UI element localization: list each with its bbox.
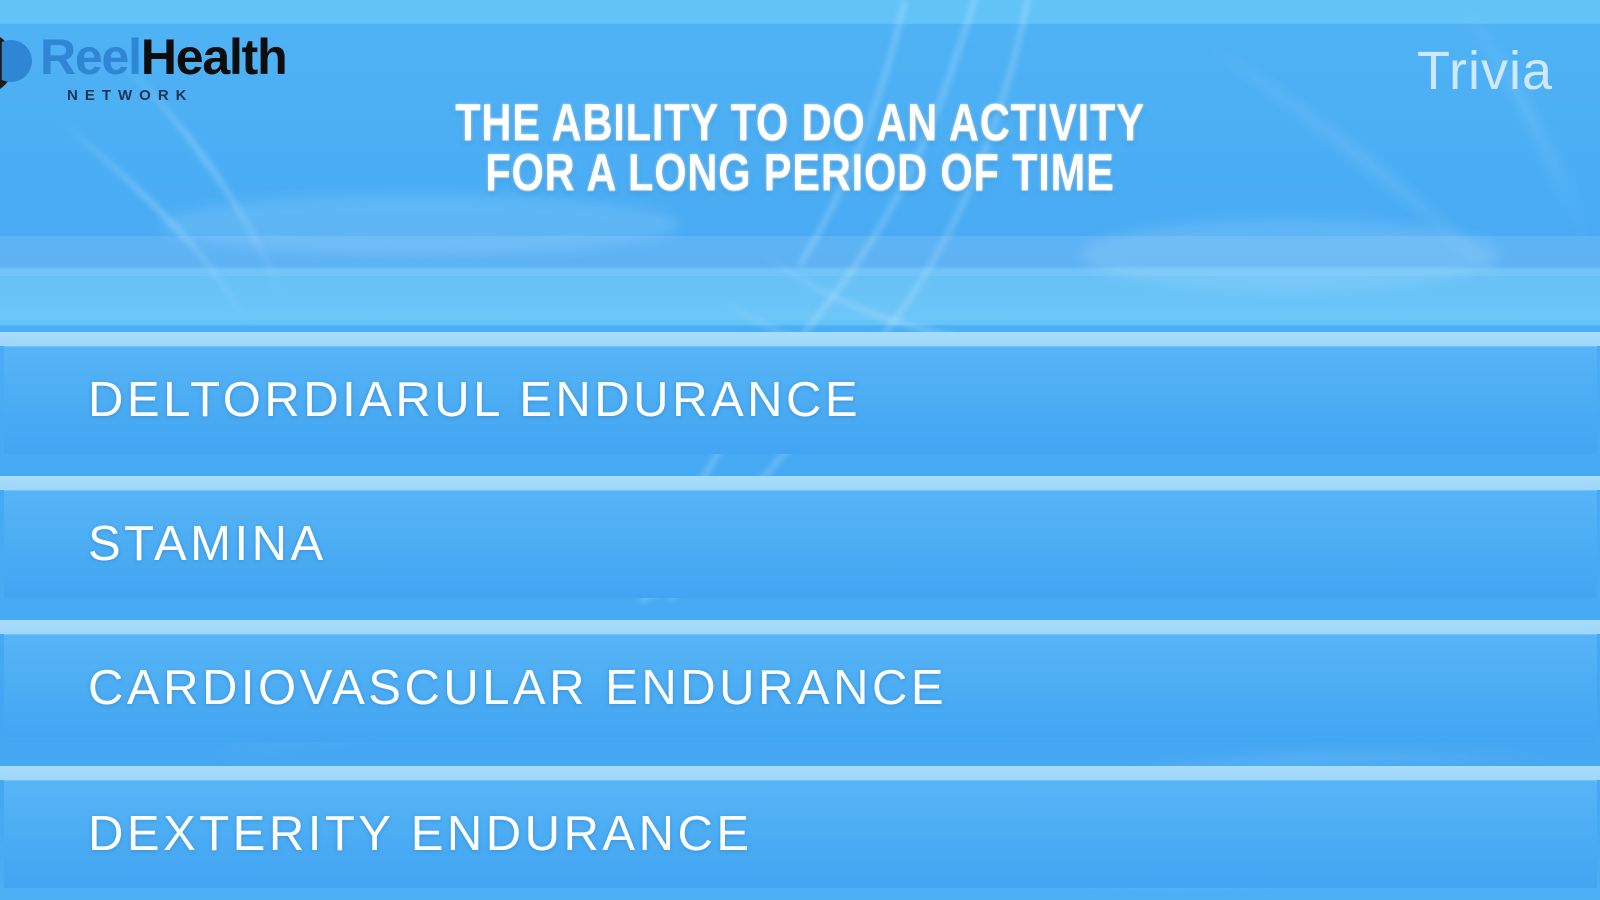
answer-bar-2[interactable]: STAMINA	[4, 490, 1597, 598]
answer-option-4[interactable]: DEXTERITY ENDURANCE	[0, 766, 1600, 888]
answer-bar-4[interactable]: DEXTERITY ENDURANCE	[4, 780, 1597, 888]
answer-option-3[interactable]: CARDIOVASCULAR ENDURANCE	[0, 620, 1600, 746]
answer-cap-3	[0, 620, 1600, 634]
answer-label-3: CARDIOVASCULAR ENDURANCE	[88, 660, 947, 716]
answer-label-2: STAMINA	[88, 516, 327, 572]
answer-bar-3[interactable]: CARDIOVASCULAR ENDURANCE	[4, 634, 1597, 742]
answer-option-1[interactable]: DELTORDIARUL ENDURANCE	[0, 332, 1600, 458]
answer-option-2[interactable]: STAMINA	[0, 476, 1600, 602]
answer-cap-4	[0, 766, 1600, 780]
answer-label-4: DEXTERITY ENDURANCE	[88, 806, 753, 862]
answer-options-list: DELTORDIARUL ENDURANCE STAMINA CARDIOVAS…	[0, 0, 1600, 900]
trivia-slide: ReelHealth NETWORK THE ABILITY TO DO AN …	[0, 0, 1600, 900]
answer-cap-2	[0, 476, 1600, 490]
answer-label-1: DELTORDIARUL ENDURANCE	[88, 372, 861, 428]
answer-cap-1	[0, 332, 1600, 346]
answer-bar-1[interactable]: DELTORDIARUL ENDURANCE	[4, 346, 1597, 454]
